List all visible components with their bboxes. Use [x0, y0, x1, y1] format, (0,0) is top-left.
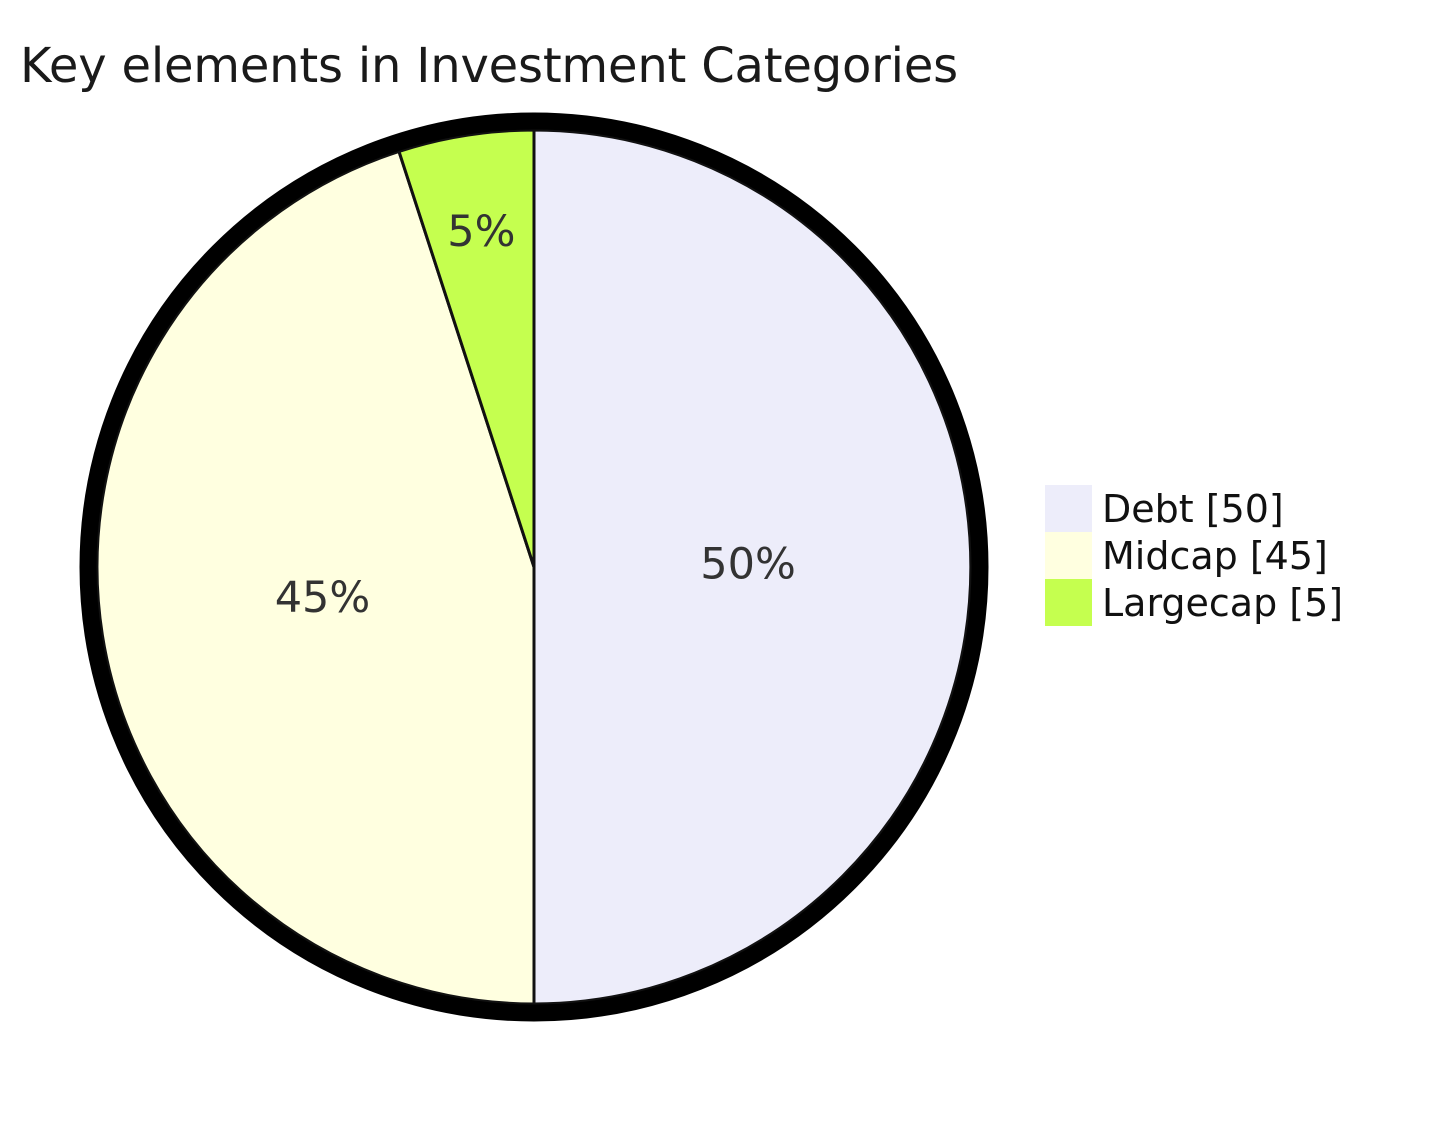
legend: Debt [50] Midcap [45] Largecap [5] [1045, 485, 1415, 626]
legend-swatch-midcap [1045, 532, 1092, 579]
legend-swatch-largecap [1045, 579, 1092, 626]
pie-chart-figure: Key elements in Investment Categories 50… [0, 0, 1445, 1143]
legend-label-midcap: Midcap [45] [1102, 537, 1328, 575]
pie-label-midcap: 45% [275, 573, 371, 623]
pie-label-debt: 50% [700, 540, 796, 590]
pie-svg: 50%45%5% [0, 0, 1080, 1143]
legend-item-midcap[interactable]: Midcap [45] [1045, 532, 1415, 579]
legend-label-largecap: Largecap [5] [1102, 584, 1343, 622]
pie-chart-area: 50%45%5% [0, 0, 1080, 1143]
legend-label-debt: Debt [50] [1102, 490, 1284, 528]
legend-item-largecap[interactable]: Largecap [5] [1045, 579, 1415, 626]
pie-label-largecap: 5% [447, 207, 515, 257]
legend-item-debt[interactable]: Debt [50] [1045, 485, 1415, 532]
pie-slice-group [97, 130, 971, 1004]
legend-swatch-debt [1045, 485, 1092, 532]
